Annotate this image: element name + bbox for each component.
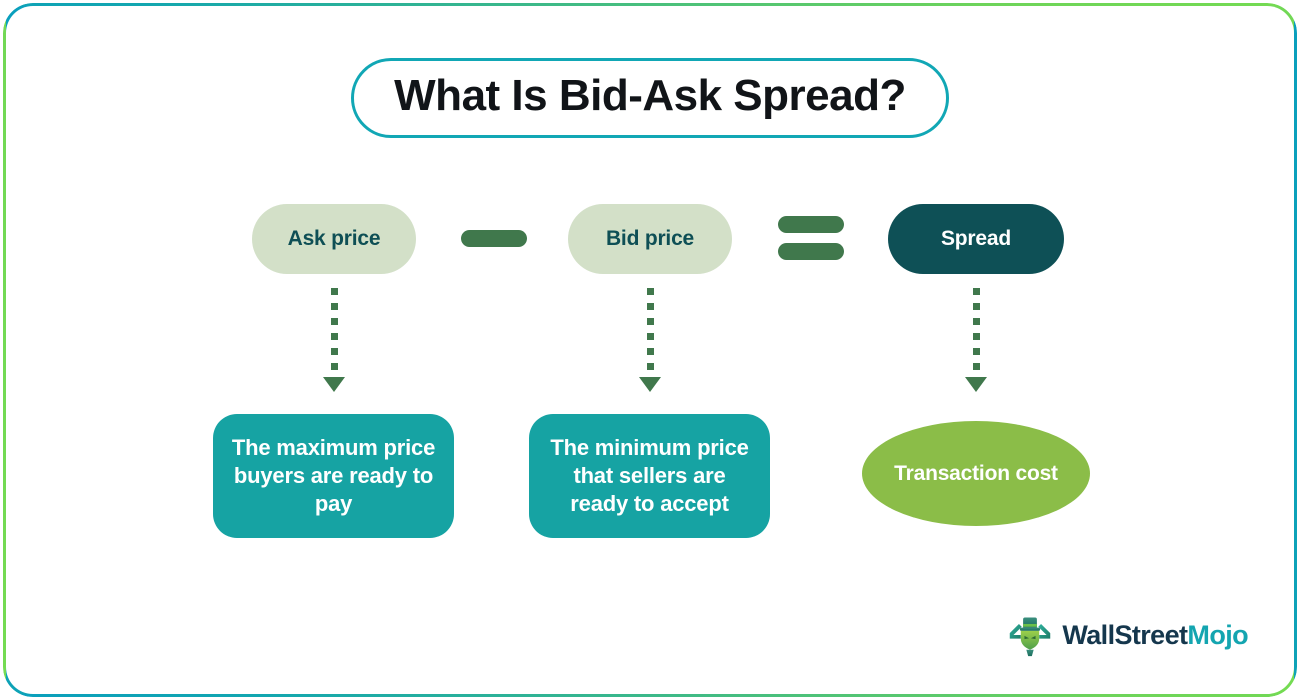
term-ask-price-label: Ask price [288, 227, 381, 251]
result-ellipse-transaction-cost: Transaction cost [862, 421, 1090, 526]
term-bid-price-label: Bid price [606, 227, 694, 251]
term-ask-price-pill: Ask price [252, 204, 416, 274]
arrow-shaft [973, 288, 980, 376]
arrow-head [639, 377, 661, 392]
equals-bar-top [778, 216, 844, 233]
term-spread-label: Spread [941, 227, 1011, 251]
page-title: What Is Bid-Ask Spread? [394, 73, 906, 119]
result-card-bid-price-text: The minimum price that sellers are ready… [543, 434, 756, 518]
logo-word-primary: WallStreet [1062, 620, 1187, 650]
logo-word-accent: Mojo [1187, 620, 1248, 650]
dotted-arrow-down-icon-ask [323, 288, 345, 392]
infographic-canvas: What Is Bid-Ask Spread? Ask price Bid pr… [0, 0, 1300, 700]
mascot-icon [1007, 612, 1053, 658]
result-card-bid-price: The minimum price that sellers are ready… [529, 414, 770, 538]
minus-operator-icon [461, 230, 527, 247]
minus-bar [461, 230, 527, 247]
equals-operator-icon [778, 216, 844, 260]
dotted-arrow-down-icon-bid [639, 288, 661, 392]
logo-wordmark: WallStreetMojo [1062, 620, 1248, 651]
term-spread-pill: Spread [888, 204, 1064, 274]
arrow-shaft [331, 288, 338, 376]
arrow-shaft [647, 288, 654, 376]
result-ellipse-transaction-cost-text: Transaction cost [894, 462, 1058, 486]
equals-bar-bottom [778, 243, 844, 260]
arrow-head [965, 377, 987, 392]
result-card-ask-price: The maximum price buyers are ready to pa… [213, 414, 454, 538]
equation-row: Ask price Bid price Spread [0, 204, 1300, 276]
wallstreetmojo-logo: WallStreetMojo [1007, 612, 1248, 658]
arrow-head [323, 377, 345, 392]
page-title-pill: What Is Bid-Ask Spread? [351, 58, 949, 138]
result-card-ask-price-text: The maximum price buyers are ready to pa… [227, 434, 440, 518]
page-title-container: What Is Bid-Ask Spread? [0, 58, 1300, 138]
dotted-arrow-down-icon-spread [965, 288, 987, 392]
term-bid-price-pill: Bid price [568, 204, 732, 274]
